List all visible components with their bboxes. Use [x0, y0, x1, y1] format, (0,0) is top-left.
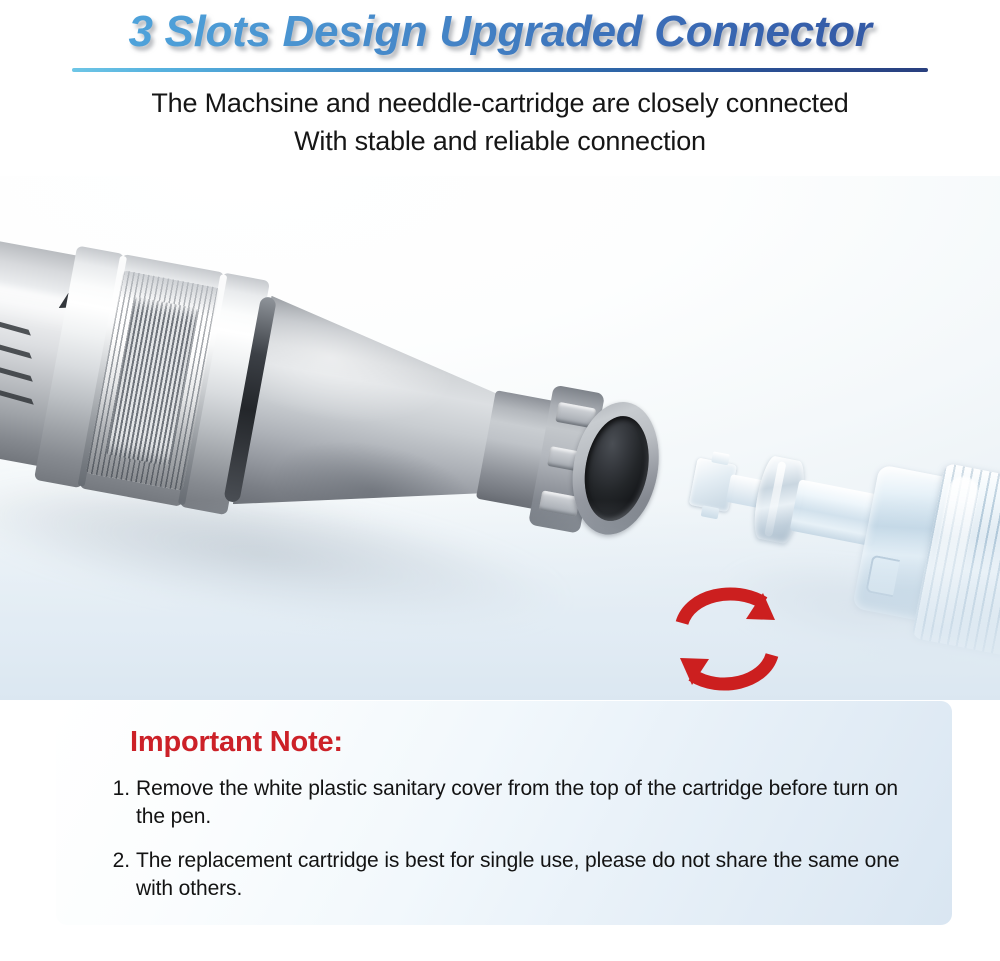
bottom-margin [0, 925, 1000, 961]
important-note-title: Important Note: [130, 725, 343, 759]
product-infographic: 3 Slots Design Upgraded Connector The Ma… [0, 0, 1000, 961]
product-photo [0, 155, 1000, 700]
list-item-number: 2. [106, 847, 130, 875]
subtitle-line-1: The Machsine and needdle-cartridge are c… [0, 84, 1000, 122]
list-item-text: The replacement cartridge is best for si… [136, 849, 899, 900]
floor-gradient [0, 500, 1000, 700]
list-item-number: 1. [106, 775, 130, 803]
title-divider [72, 68, 928, 72]
important-note-list: 1. Remove the white plastic sanitary cov… [106, 775, 914, 919]
subtitle: The Machsine and needdle-cartridge are c… [0, 84, 1000, 160]
important-note-box: Important Note: 1. Remove the white plas… [56, 701, 952, 925]
rotation-arrows-icon [672, 579, 790, 699]
list-item-text: Remove the white plastic sanitary cover … [136, 777, 898, 828]
list-item: 1. Remove the white plastic sanitary cov… [106, 775, 914, 831]
header: 3 Slots Design Upgraded Connector The Ma… [0, 0, 1000, 176]
list-item: 2. The replacement cartridge is best for… [106, 847, 914, 903]
subtitle-line-2: With stable and reliable connection [0, 122, 1000, 160]
page-title: 3 Slots Design Upgraded Connector [0, 2, 1000, 62]
